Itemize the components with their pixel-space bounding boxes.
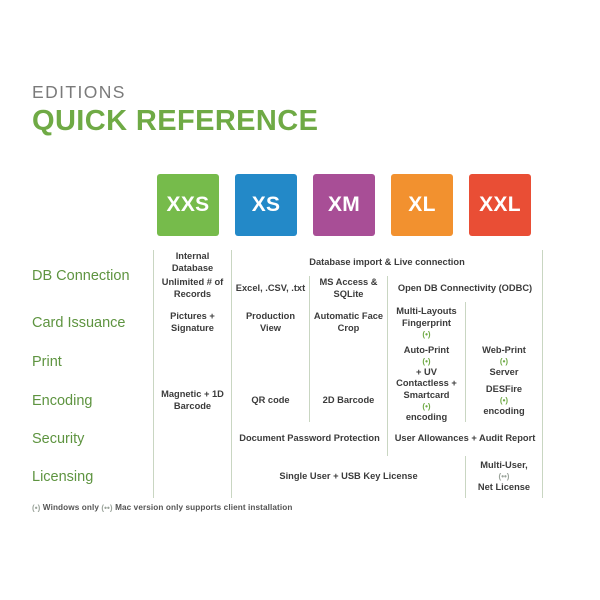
matrix-cell: Database import & Live connection [231, 250, 543, 276]
matrix-row: SecurityDocument Password ProtectionUser… [32, 422, 568, 456]
matrix-cell: Auto-Print (•) + UV [387, 344, 465, 380]
row-label-card-issuance: Card Issuance [32, 302, 153, 344]
row-label-db-connection: DB Connection [32, 250, 153, 302]
row-cells: Single User + USB Key LicenseMulti-User,… [153, 456, 568, 498]
platform-marker: (•) [32, 503, 40, 512]
matrix-cell-empty [153, 344, 231, 380]
cell-band: Document Password ProtectionUser Allowan… [153, 422, 568, 456]
matrix-row: Card IssuancePictures + SignatureProduct… [32, 302, 568, 344]
platform-marker: (•) [500, 357, 508, 367]
matrix-cell: DESFire (•) encoding [465, 380, 543, 422]
edition-tile-label: XL [408, 193, 435, 217]
row-label-licensing: Licensing [32, 456, 153, 498]
row-cells: Magnetic + 1D BarcodeQR code2D BarcodeCo… [153, 380, 568, 422]
matrix-cell: Multi-Layouts Fingerprint (•) [387, 302, 465, 344]
footnote: (•) Windows only (••) Mac version only s… [32, 503, 292, 512]
edition-tile-label: XXS [167, 193, 210, 217]
edition-tile-xxs[interactable]: XXS [157, 174, 219, 236]
matrix-cell: Pictures + Signature [153, 302, 231, 344]
matrix-row: DB ConnectionInternal DatabaseDatabase i… [32, 250, 568, 302]
matrix-row: PrintAuto-Print (•) + UVWeb-Print (•) Se… [32, 344, 568, 380]
edition-tile-label: XM [328, 193, 360, 217]
row-label-print: Print [32, 344, 153, 380]
row-label-text: Encoding [32, 393, 92, 409]
row-label-security: Security [32, 422, 153, 456]
platform-marker: (•) [422, 330, 430, 340]
matrix-cell-empty [309, 344, 387, 380]
matrix-cell-empty [465, 302, 543, 344]
edition-tile-label: XXL [479, 193, 521, 217]
matrix-cell: Single User + USB Key License [231, 456, 465, 498]
row-cells: Auto-Print (•) + UVWeb-Print (•) Server [153, 344, 568, 380]
platform-marker: (•) [500, 396, 508, 406]
matrix-cell: Multi-User, (••) Net License [465, 456, 543, 498]
row-label-text: Print [32, 354, 62, 370]
matrix-cell-empty [153, 422, 231, 456]
row-label-text: Licensing [32, 469, 93, 485]
row-label-text: Card Issuance [32, 315, 126, 331]
edition-tile-xxl[interactable]: XXL [469, 174, 531, 236]
title-main: QUICK REFERENCE [32, 106, 318, 137]
row-label-text: Security [32, 431, 84, 447]
cell-band: Unlimited # of RecordsExcel, .CSV, .txtM… [153, 276, 568, 302]
page-title: EDITIONS QUICK REFERENCE [32, 84, 318, 137]
matrix-cell-empty [231, 344, 309, 380]
title-eyebrow: EDITIONS [32, 84, 318, 102]
matrix-cell: User Allowances + Audit Report [387, 422, 543, 456]
matrix-cell: Web-Print (•) Server [465, 344, 543, 380]
platform-marker: (•) [422, 357, 430, 367]
cell-band: Auto-Print (•) + UVWeb-Print (•) Server [153, 344, 568, 380]
edition-tile-xl[interactable]: XL [391, 174, 453, 236]
matrix-cell: Unlimited # of Records [153, 276, 231, 302]
matrix-cell: Contactless + Smartcard (•) encoding [387, 380, 465, 422]
matrix-cell: 2D Barcode [309, 380, 387, 422]
row-label-encoding: Encoding [32, 380, 153, 422]
cell-band: Magnetic + 1D BarcodeQR code2D BarcodeCo… [153, 380, 568, 422]
platform-marker: (••) [499, 472, 510, 482]
edition-tile-xm[interactable]: XM [313, 174, 375, 236]
matrix-cell: QR code [231, 380, 309, 422]
edition-tile-label: XS [252, 193, 281, 217]
edition-tile-xs[interactable]: XS [235, 174, 297, 236]
feature-matrix: DB ConnectionInternal DatabaseDatabase i… [32, 250, 568, 498]
cell-band: Single User + USB Key LicenseMulti-User,… [153, 456, 568, 498]
matrix-cell: Production View [231, 302, 309, 344]
row-cells: Internal DatabaseDatabase import & Live … [153, 250, 568, 302]
matrix-cell: Magnetic + 1D Barcode [153, 380, 231, 422]
platform-marker: (••) [101, 503, 112, 512]
matrix-row: EncodingMagnetic + 1D BarcodeQR code2D B… [32, 380, 568, 422]
row-cells: Pictures + SignatureProduction ViewAutom… [153, 302, 568, 344]
matrix-cell: Automatic Face Crop [309, 302, 387, 344]
matrix-cell: Excel, .CSV, .txt [231, 276, 309, 302]
matrix-cell: Document Password Protection [231, 422, 387, 456]
matrix-row: LicensingSingle User + USB Key LicenseMu… [32, 456, 568, 498]
matrix-cell: Open DB Connectivity (ODBC) [387, 276, 543, 302]
cell-band: Internal DatabaseDatabase import & Live … [153, 250, 568, 276]
platform-marker: (•) [422, 402, 430, 412]
matrix-cell: MS Access & SQLite [309, 276, 387, 302]
cell-band: Pictures + SignatureProduction ViewAutom… [153, 302, 568, 344]
matrix-cell: Internal Database [153, 250, 231, 276]
row-cells: Document Password ProtectionUser Allowan… [153, 422, 568, 456]
matrix-cell-empty [153, 456, 231, 498]
row-label-text: DB Connection [32, 268, 130, 284]
editions-header-row: XXSXSXMXLXXL [157, 174, 545, 236]
